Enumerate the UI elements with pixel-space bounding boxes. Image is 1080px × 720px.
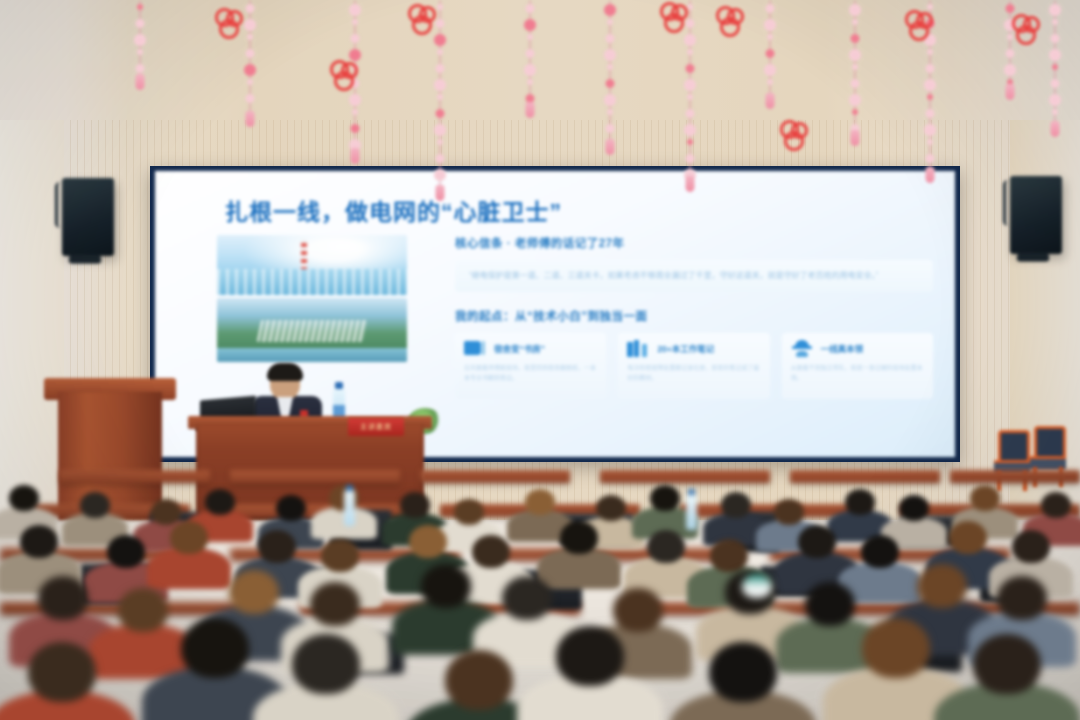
slide-section-heading-2: 我的起点：从“技术小白”到独当一面 <box>455 308 933 324</box>
audience-head <box>292 634 360 694</box>
chinese-knot-decoration <box>1012 14 1042 44</box>
audience-head <box>973 634 1041 694</box>
hanging-decoration <box>130 0 150 90</box>
nameplate: 主讲嘉宾 <box>348 418 404 436</box>
photo-power-plant <box>217 235 407 295</box>
speaker-bracket-right <box>1003 180 1015 226</box>
card-title: 宿舍变“书房” <box>494 343 545 355</box>
hanging-decoration <box>520 0 540 118</box>
chinese-knot-decoration <box>215 8 245 38</box>
river-band <box>217 348 407 362</box>
slide-quote: “继电保护是第一道、二道、三道关卡，如果考虑不够周全漏过了千里，守好这道关，就是… <box>455 260 933 292</box>
audience-water-bottle <box>344 490 355 526</box>
audience-plush-toy <box>742 574 772 598</box>
chinese-knot-decoration <box>905 10 935 40</box>
hanging-decoration <box>845 0 865 146</box>
hanging-decoration <box>1045 0 1065 137</box>
book-icon <box>464 340 486 358</box>
slide-card-1: 宿舍变“书房” 白天跟着师傅跑现场，夜里回到宿舍翻图纸，一本本专业书翻到卷边。 <box>455 333 606 399</box>
card-description: 白天跟着师傅跑现场，夜里回到宿舍翻图纸，一本本专业书翻到卷边。 <box>464 364 597 384</box>
card-description: 每次检修故障处置都记录在册，厚厚的笔记成了最好的教材。 <box>627 364 760 384</box>
slide-title: 扎根一线，做电网的“心脏卫士” <box>225 193 562 227</box>
chinese-knot-decoration <box>660 2 690 32</box>
card-title: 一线真本领 <box>821 343 864 355</box>
audience-head <box>862 618 930 678</box>
bottle-cap <box>335 382 343 389</box>
books-stack-icon <box>627 340 649 358</box>
hanging-decoration <box>760 0 780 109</box>
audience-head <box>28 642 96 702</box>
slide-card-2: 20+本工作笔记 每次检修故障处置都记录在册，厚厚的笔记成了最好的教材。 <box>618 333 769 399</box>
hanging-decoration <box>600 0 620 155</box>
wall-speaker-right <box>1010 176 1062 254</box>
slide-section-heading-1: 核心信条 · 老师傅的话记了27年 <box>455 235 933 251</box>
card-title: 20+本工作笔记 <box>657 343 714 355</box>
slide-content-column: 核心信条 · 老师傅的话记了27年 “继电保护是第一道、二道、三道关卡，如果考虑… <box>455 235 933 399</box>
slide-card-3: 一线真本领 从跟着干到独立带队，练就一身过硬的现场处置本领。 <box>782 333 933 399</box>
slide-photo-column <box>217 235 407 362</box>
chinese-knot-decoration <box>408 4 438 34</box>
wall-speaker-left <box>62 178 114 256</box>
substation-yard <box>256 320 367 342</box>
audience-area <box>0 452 1080 720</box>
card-header: 一线真本领 <box>791 340 924 358</box>
audience-head <box>709 642 777 702</box>
worker-helmet-icon <box>791 340 813 358</box>
card-header: 20+本工作笔记 <box>627 340 760 358</box>
city-skyline <box>217 269 407 295</box>
chinese-knot-decoration <box>716 6 746 36</box>
audience-head <box>181 618 249 678</box>
audience-water-bottle <box>686 494 697 530</box>
lecture-hall-screenshot: 扎根一线，做电网的“心脏卫士” 核心信条 · 老师傅的话记了27年 “继电保护是… <box>0 0 1080 720</box>
presenter-hair <box>267 363 303 381</box>
smoke-plume <box>312 237 374 257</box>
slide-card-row: 宿舍变“书房” 白天跟着师傅跑现场，夜里回到宿舍翻图纸，一本本专业书翻到卷边。 … <box>455 333 933 399</box>
speaker-bracket-left <box>55 182 67 228</box>
photo-substation <box>217 298 407 362</box>
card-description: 从跟着干到独立带队，练就一身过硬的现场处置本领。 <box>791 364 924 384</box>
audience-head <box>556 626 624 686</box>
audience-head <box>445 650 513 710</box>
chimney-stack <box>301 239 307 273</box>
chinese-knot-decoration <box>780 120 810 150</box>
card-header: 宿舍变“书房” <box>464 340 597 358</box>
chinese-knot-decoration <box>330 60 360 90</box>
